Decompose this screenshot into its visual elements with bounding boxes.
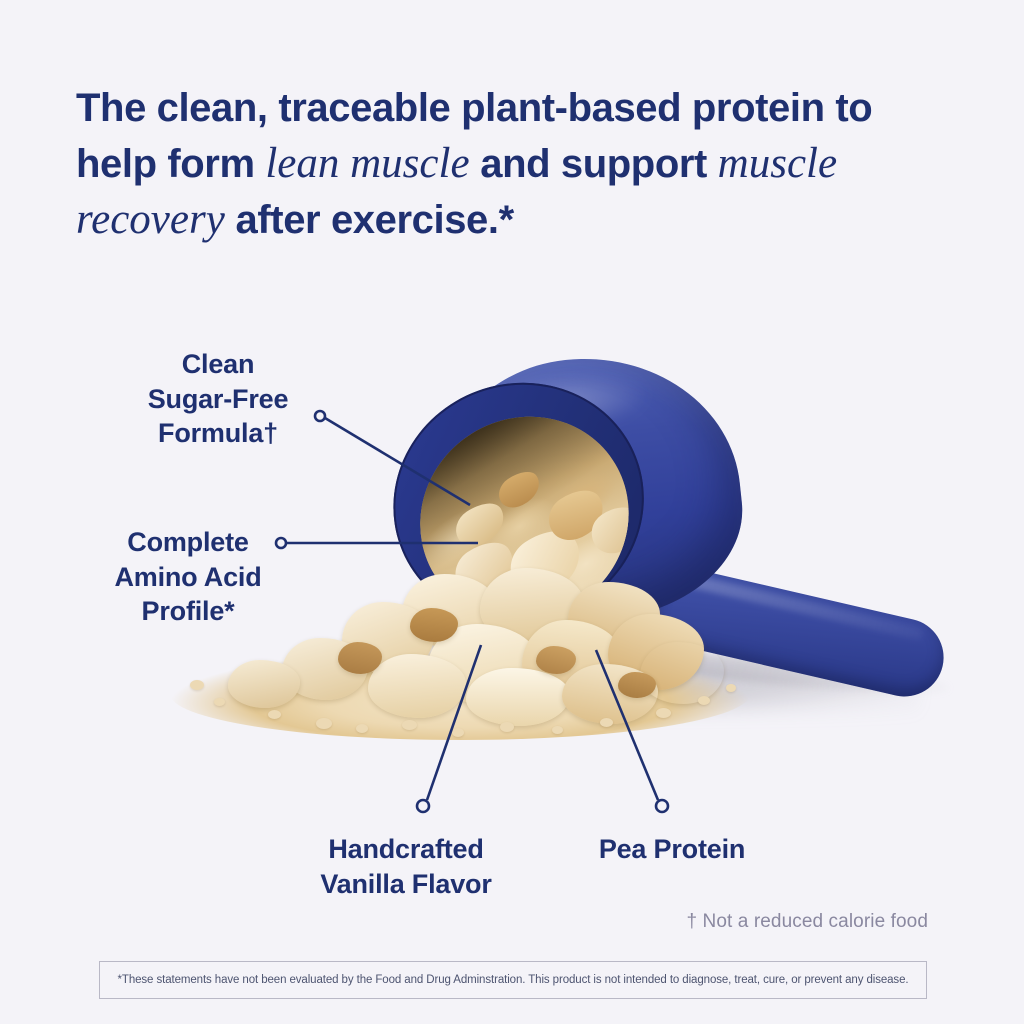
powder-crumb: [698, 696, 710, 705]
callout-label-pea-protein: Pea Protein: [582, 832, 762, 867]
powder-chunk: [368, 654, 466, 718]
powder-chunk-dark: [410, 608, 458, 642]
callout-label-handcrafted-vanilla-flavor: Handcrafted Vanilla Flavor: [306, 832, 506, 901]
powder-crumb: [452, 728, 464, 737]
page-headline: The clean, traceable plant-based protein…: [76, 81, 936, 248]
powder-crumb: [214, 698, 225, 706]
powder-chunk: [228, 660, 300, 708]
headline-part-2: and support: [470, 142, 718, 186]
powder-crumb: [552, 726, 563, 734]
disclaimer-box: *These statements have not been evaluate…: [99, 961, 927, 999]
callout-label-clean-sugar-free-formula: Clean Sugar-Free Formula†: [140, 347, 296, 451]
powder-chunk-dark: [536, 646, 576, 674]
product-benefit-graphic: The clean, traceable plant-based protein…: [0, 0, 1024, 1024]
powder-chunk: [466, 668, 570, 726]
powder-crumb: [190, 680, 204, 690]
powder-chunk-dark: [338, 642, 382, 674]
powder-crumb: [316, 718, 332, 729]
powder-chunk: [640, 642, 724, 704]
powder-crumb: [656, 708, 671, 718]
headline-part-3: after exercise.*: [225, 198, 514, 242]
powder-crumb: [500, 722, 514, 732]
powder-chunk-dark: [618, 672, 656, 698]
powder-crumb: [268, 710, 281, 719]
dagger-footnote: † Not a reduced calorie food: [686, 911, 928, 933]
powder-crumb: [726, 684, 736, 692]
powder-crumb: [402, 720, 417, 730]
disclaimer-text: *These statements have not been evaluate…: [118, 974, 909, 986]
powder-crumb: [600, 718, 613, 727]
callout-label-complete-amino-acid-profile: Complete Amino Acid Profile*: [98, 525, 278, 629]
powder-crumb: [356, 724, 368, 733]
headline-emphasis-lean-muscle: lean muscle: [265, 140, 469, 187]
